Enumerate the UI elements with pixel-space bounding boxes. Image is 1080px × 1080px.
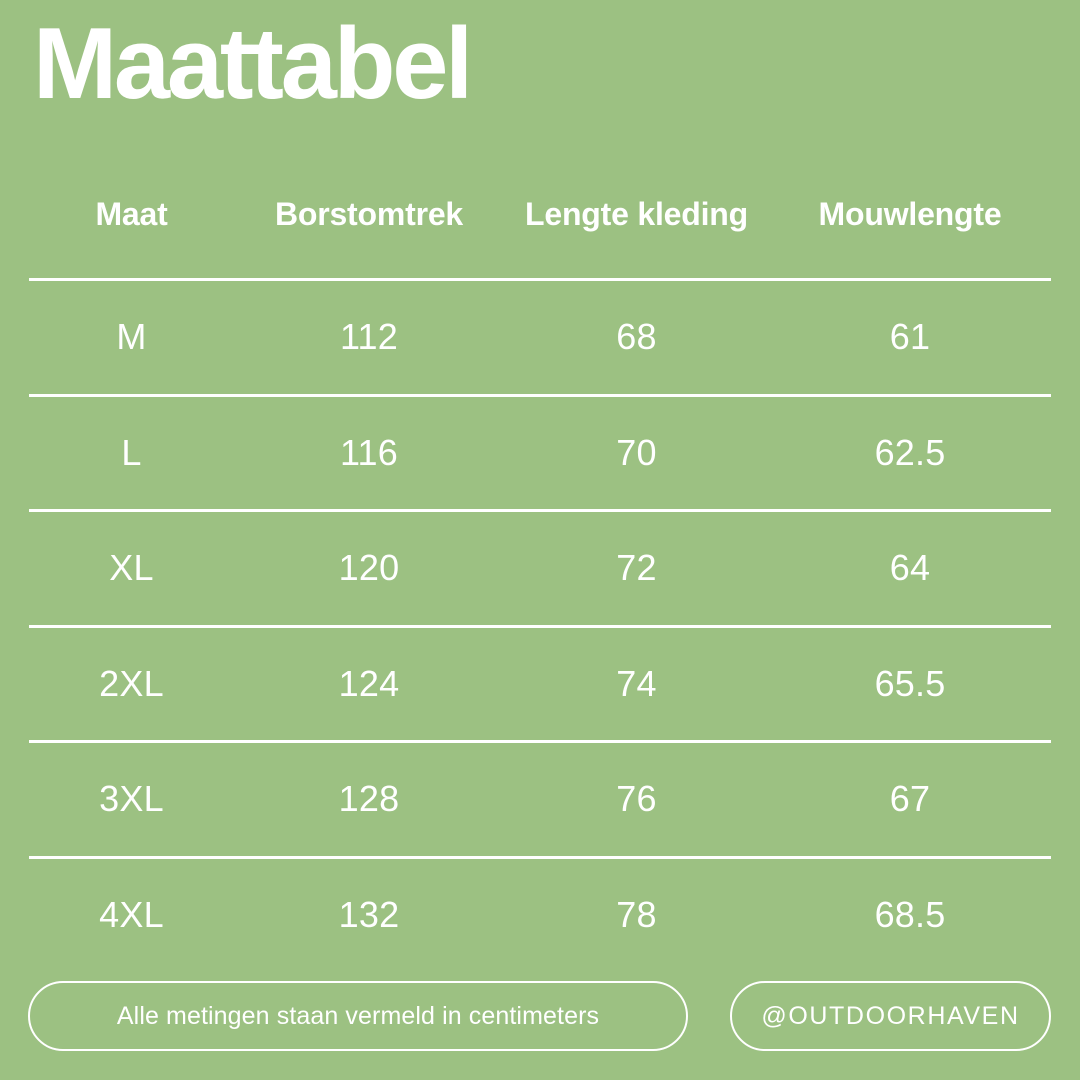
- measurement-note-pill: Alle metingen staan vermeld in centimete…: [28, 981, 688, 1051]
- cell-mouwlengte: 65.5: [769, 666, 1051, 702]
- size-table: Maat Borstomtrek Lengte kleding Mouwleng…: [29, 150, 1051, 971]
- cell-maat: XL: [29, 550, 234, 586]
- column-header-lengte-kleding: Lengte kleding: [504, 194, 769, 235]
- footer: Alle metingen staan vermeld in centimete…: [28, 981, 1051, 1051]
- cell-borstomtrek: 116: [234, 435, 504, 471]
- column-header-mouwlengte: Mouwlengte: [769, 194, 1051, 235]
- cell-lengte-kleding: 78: [504, 897, 769, 933]
- page-title: Maattabel: [33, 8, 470, 121]
- column-header-borstomtrek: Borstomtrek: [234, 194, 504, 235]
- cell-lengte-kleding: 70: [504, 435, 769, 471]
- cell-lengte-kleding: 68: [504, 319, 769, 355]
- social-handle-label: @OUTDOORHAVEN: [761, 1002, 1019, 1031]
- measurement-note-label: Alle metingen staan vermeld in centimete…: [117, 1002, 599, 1031]
- table-row: M 112 68 61: [29, 281, 1051, 394]
- cell-borstomtrek: 120: [234, 550, 504, 586]
- cell-borstomtrek: 132: [234, 897, 504, 933]
- table-row: XL 120 72 64: [29, 512, 1051, 625]
- size-chart-poster: Maattabel Maat Borstomtrek Lengte kledin…: [0, 0, 1080, 1080]
- cell-maat: M: [29, 319, 234, 355]
- table-row: 2XL 124 74 65.5: [29, 628, 1051, 741]
- cell-mouwlengte: 62.5: [769, 435, 1051, 471]
- cell-borstomtrek: 128: [234, 781, 504, 817]
- cell-borstomtrek: 112: [234, 319, 504, 355]
- cell-maat: 3XL: [29, 781, 234, 817]
- cell-mouwlengte: 61: [769, 319, 1051, 355]
- cell-borstomtrek: 124: [234, 666, 504, 702]
- social-handle-pill: @OUTDOORHAVEN: [730, 981, 1051, 1051]
- cell-mouwlengte: 64: [769, 550, 1051, 586]
- cell-mouwlengte: 67: [769, 781, 1051, 817]
- cell-maat: L: [29, 435, 234, 471]
- cell-maat: 2XL: [29, 666, 234, 702]
- cell-mouwlengte: 68.5: [769, 897, 1051, 933]
- cell-maat: 4XL: [29, 897, 234, 933]
- column-header-maat: Maat: [29, 194, 234, 235]
- table-row: L 116 70 62.5: [29, 397, 1051, 510]
- cell-lengte-kleding: 76: [504, 781, 769, 817]
- table-header-row: Maat Borstomtrek Lengte kleding Mouwleng…: [29, 150, 1051, 278]
- cell-lengte-kleding: 74: [504, 666, 769, 702]
- table-row: 3XL 128 76 67: [29, 743, 1051, 856]
- table-row: 4XL 132 78 68.5: [29, 859, 1051, 972]
- cell-lengte-kleding: 72: [504, 550, 769, 586]
